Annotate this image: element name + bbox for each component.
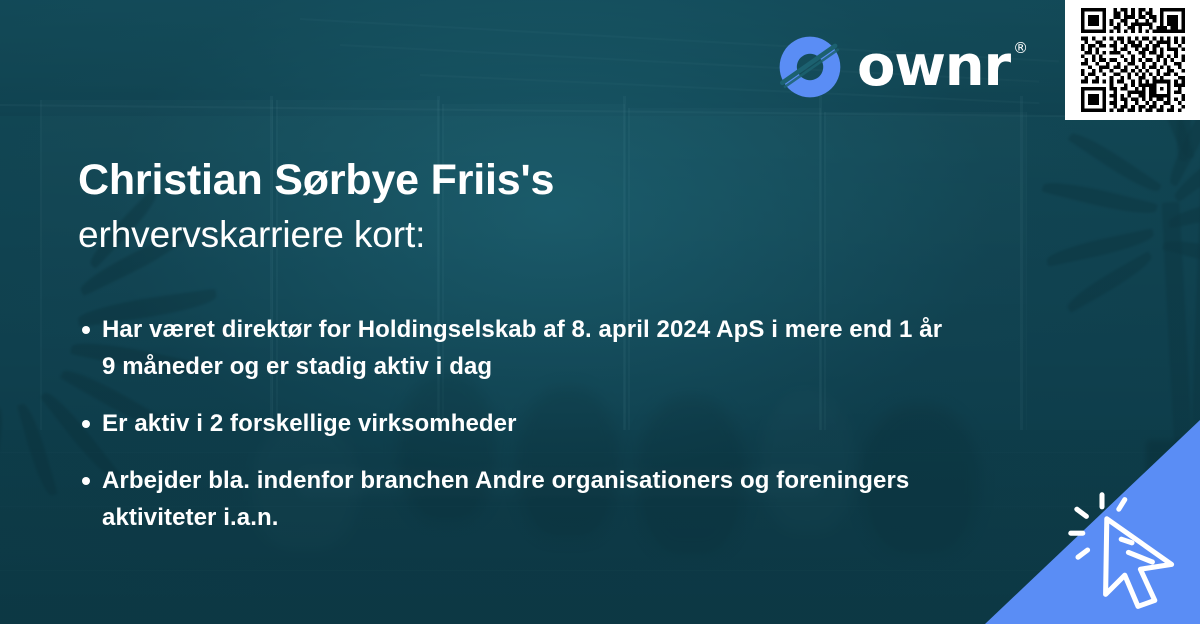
career-facts-list: Har været direktør for Holdingselskab af… bbox=[78, 312, 958, 537]
headline-name: Christian Sørbye Friis's bbox=[78, 155, 978, 206]
bullet-icon bbox=[82, 420, 90, 428]
ownr-wordmark-text: ownr bbox=[857, 34, 1010, 99]
page-title: Christian Sørbye Friis's erhvervskarrier… bbox=[78, 155, 978, 257]
bullet-icon bbox=[82, 477, 90, 485]
list-item: Har været direktør for Holdingselskab af… bbox=[78, 312, 958, 386]
ownr-circle-swoosh-icon bbox=[777, 34, 843, 100]
fact-text: Arbejder bla. indenfor branchen Andre or… bbox=[102, 463, 958, 537]
fact-text: Er aktiv i 2 forskellige virksomheder bbox=[102, 406, 958, 443]
ownr-wordmark: ownr ® bbox=[857, 39, 1010, 95]
list-item: Arbejder bla. indenfor branchen Andre or… bbox=[78, 463, 958, 537]
career-card: ownr ® Christian Sørbye Friis's erhvervs… bbox=[0, 0, 1200, 624]
qr-code[interactable] bbox=[1081, 8, 1185, 112]
fact-text: Har været direktør for Holdingselskab af… bbox=[102, 312, 958, 386]
headline-subtitle: erhvervskarriere kort: bbox=[78, 212, 978, 257]
ownr-logo[interactable]: ownr ® bbox=[777, 33, 1010, 101]
click-cursor-icon bbox=[1066, 490, 1186, 610]
list-item: Er aktiv i 2 forskellige virksomheder bbox=[78, 406, 958, 443]
qr-code-panel[interactable] bbox=[1065, 0, 1200, 120]
bullet-icon bbox=[82, 326, 90, 334]
registered-trademark-symbol: ® bbox=[1013, 41, 1027, 56]
